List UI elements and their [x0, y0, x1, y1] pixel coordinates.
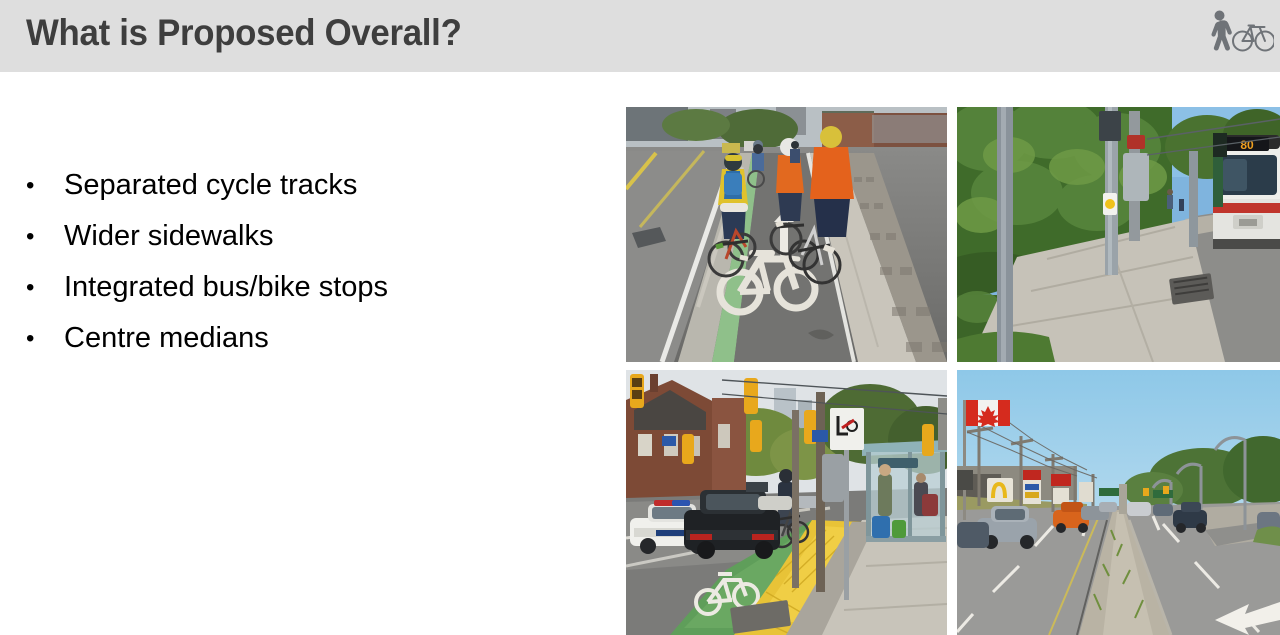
svg-text:80: 80: [1240, 138, 1254, 152]
bullet-list: • Separated cycle tracks • Wider sidewal…: [0, 160, 600, 364]
transit-bus: 80: [1213, 133, 1280, 249]
photo-separated-cycle-track: [626, 107, 947, 362]
photo-integrated-bus-bike-stop: [626, 370, 947, 635]
bullet-marker-icon: •: [26, 313, 36, 364]
page-title: What is Proposed Overall?: [26, 12, 462, 54]
photo-centre-median-arterial: [957, 370, 1280, 635]
slide: What is Proposed Overall? • Separated cy…: [0, 0, 1280, 635]
bicycle-icon: [1233, 26, 1274, 51]
photo-grid: 80: [626, 107, 1280, 635]
list-item-label: Wider sidewalks: [64, 220, 274, 252]
photo-wider-sidewalk-with-bus: 80: [957, 107, 1280, 362]
list-item: • Separated cycle tracks: [0, 160, 600, 211]
list-item: • Integrated bus/bike stops: [0, 262, 600, 313]
list-item-label: Separated cycle tracks: [64, 169, 357, 201]
walking-pedestrian-icon: [1211, 11, 1231, 51]
list-item: • Centre medians: [0, 313, 600, 364]
bullet-marker-icon: •: [26, 262, 36, 313]
list-item-label: Integrated bus/bike stops: [64, 271, 388, 303]
list-item: • Wider sidewalks: [0, 211, 600, 262]
bullet-marker-icon: •: [26, 211, 36, 262]
pedestrian-and-bicycle-logo: [1202, 6, 1274, 60]
bullet-marker-icon: •: [26, 160, 36, 211]
list-item-label: Centre medians: [64, 322, 269, 354]
